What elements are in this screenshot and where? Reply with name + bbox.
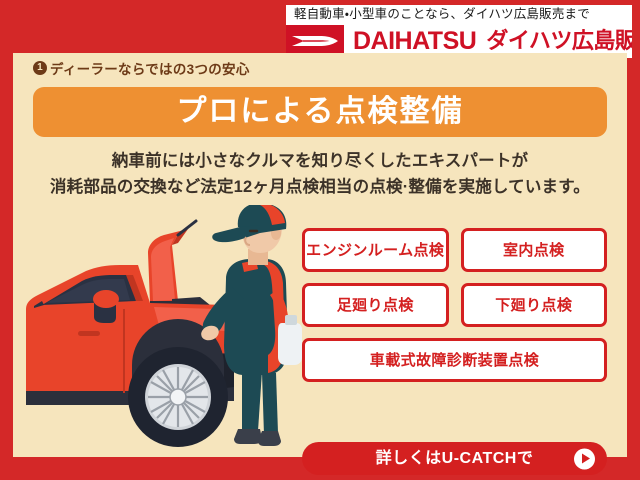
- inspection-item-obd[interactable]: 車載式故障診断装置点検: [302, 338, 607, 382]
- inspection-items-row-3: 車載式故障診断装置点検: [302, 338, 607, 382]
- inspection-item-label: 車載式故障診断装置点検: [370, 353, 539, 368]
- section-number-badge: 1: [33, 61, 47, 75]
- inspection-items-row-1: エンジンルーム点検 室内点検: [302, 228, 607, 272]
- title-banner-label: プロによる点検整備: [176, 97, 463, 127]
- brand-tagline: 軽自動車・小型車のことなら、ダイハツ広島販売まで: [286, 5, 632, 24]
- brand-wordmark-jp: ダイハツ広島販売: [476, 30, 632, 52]
- inspection-items-row-2: 足廻り点検 下廻り点検: [302, 283, 607, 327]
- ucatch-cta-label: 詳しくはU-CATCHで: [376, 451, 534, 467]
- promo-slide: 軽自動車・小型車のことなら、ダイハツ広島販売まで DAIHATSU ダイハツ広島…: [0, 0, 640, 480]
- play-arrow-icon: [574, 448, 595, 469]
- lead-paragraph: 納車前には小さなクルマを知り尽くしたエキスパートが 消耗部品の交換など法定12ヶ…: [13, 148, 627, 200]
- inspection-item-interior[interactable]: 室内点検: [461, 228, 608, 272]
- inspection-item-underbody[interactable]: 下廻り点検: [461, 283, 608, 327]
- brand-wordmark: DAIHATSU: [344, 29, 476, 54]
- ucatch-cta-button[interactable]: 詳しくはU-CATCHで: [302, 442, 607, 475]
- lead-line-1: 納車前には小さなクルマを知り尽くしたエキスパートが: [13, 148, 627, 174]
- section-heading: 1ディーラーならではの3つの安心: [33, 58, 250, 78]
- inspection-item-suspension[interactable]: 足廻り点検: [302, 283, 449, 327]
- brand-header: 軽自動車・小型車のことなら、ダイハツ広島販売まで DAIHATSU ダイハツ広島…: [286, 5, 632, 58]
- inspection-item-label: 足廻り点検: [337, 298, 414, 313]
- content-panel: 1ディーラーならではの3つの安心 プロによる点検整備 納車前には小さなクルマを知…: [13, 53, 627, 457]
- lead-line-2: 消耗部品の交換など法定12ヶ月点検相当の点検·整備を実施しています。: [13, 174, 627, 200]
- section-heading-label: ディーラーならではの3つの安心: [50, 58, 250, 78]
- inspection-items-list: エンジンルーム点検 室内点検 足廻り点検 下廻り点検 車載式故障診断装置点検: [302, 228, 607, 393]
- title-banner: プロによる点検整備: [33, 87, 607, 137]
- inspection-item-label: 室内点検: [503, 243, 565, 258]
- inspection-item-label: 下廻り点検: [495, 298, 572, 313]
- inspection-item-label: エンジンルーム点検: [306, 243, 444, 258]
- mechanic-inspecting-red-car-illustration: [20, 205, 310, 457]
- inspection-item-engine-room[interactable]: エンジンルーム点検: [302, 228, 449, 272]
